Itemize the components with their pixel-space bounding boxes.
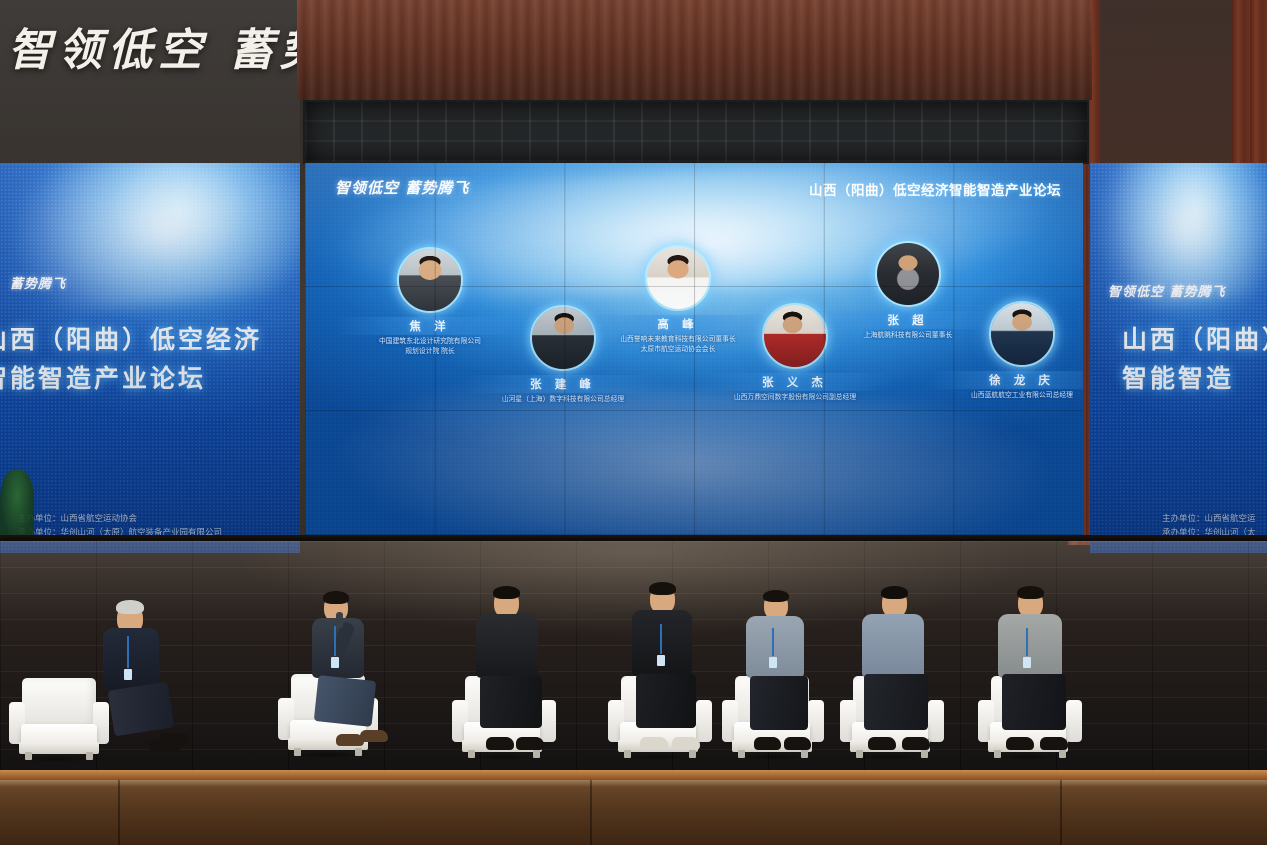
person-1-badge (124, 669, 132, 680)
main-led-screen: 智领低空 蓄势腾飞 山西（阳曲）低空经济智能智造产业论坛 焦 洋 中国建筑东北设… (305, 163, 1083, 535)
person-7-shoe-left (1006, 737, 1034, 750)
chair-leg-left-5 (738, 750, 745, 758)
person-4-hair (649, 582, 676, 595)
chair-back-1 (22, 678, 96, 726)
person-7-legs (1002, 674, 1066, 730)
person-2-legs (314, 675, 376, 727)
person-5-legs (750, 676, 808, 730)
person-3-shoe-right (516, 737, 544, 750)
person-4-lanyard (660, 624, 662, 654)
person-6-torso (862, 614, 924, 678)
person-3-hair (493, 586, 520, 599)
conference-stage-photo: 智领低空 蓄势腾飞 智领低空 蓄势腾飞 山西（阳曲）低空经济智能智造产业论坛 焦… (0, 0, 1267, 845)
panel-seat-3 (452, 590, 602, 758)
person-7-lanyard (1026, 628, 1028, 656)
chair-leg-left-1 (25, 752, 32, 760)
panel-seat-6 (840, 590, 990, 758)
person-7-badge (1023, 657, 1031, 668)
person-4-badge (657, 655, 665, 666)
chair-leg-left-3 (468, 750, 475, 758)
banner-left-sheen (0, 163, 300, 553)
person-2-badge (331, 657, 339, 668)
person-5-torso (746, 616, 804, 678)
chair-leg-right-2 (355, 748, 362, 756)
person-6-hair (881, 586, 908, 599)
seated-person-1 (87, 600, 207, 752)
person-2-lanyard (334, 626, 336, 656)
panel-seat-1 (5, 600, 165, 760)
venue-calligraphy-banner: 智领低空 蓄势腾飞 (8, 14, 338, 76)
led-dark-header-panel (303, 100, 1089, 164)
person-2-shoe-right (360, 730, 388, 742)
person-1-torso (103, 628, 159, 690)
person-1-shoe-right (149, 740, 181, 752)
person-7-hair (1017, 586, 1044, 599)
seated-person-7 (992, 582, 1104, 750)
person-7-shoe-right (1040, 737, 1068, 750)
chair-leg-right-4 (689, 750, 696, 758)
stage-potted-plant (0, 470, 34, 542)
apron-seam-3 (1060, 780, 1062, 845)
chair-leg-left-4 (624, 750, 631, 758)
person-3-shoe-left (486, 737, 514, 750)
person-5-shoe-left (754, 737, 781, 750)
person-7-torso (998, 614, 1062, 678)
apron-seam-1 (118, 780, 120, 845)
person-6-shoe-left (868, 737, 896, 750)
person-5-badge (769, 657, 777, 668)
apron-top-highlight (0, 780, 1267, 787)
person-5-shoe-right (784, 737, 811, 750)
chair-leg-left-6 (856, 750, 863, 758)
person-2-microphone (336, 612, 343, 628)
person-4-shoe-left (640, 737, 668, 750)
banner-right-sheen (1090, 163, 1267, 553)
person-5-hair (763, 590, 789, 602)
person-4-torso (632, 610, 692, 676)
person-3-legs (480, 676, 542, 728)
stage-soffit (297, 0, 1092, 100)
seated-person-4 (624, 578, 734, 750)
person-1-hair (116, 600, 144, 614)
chair-leg-right-1 (86, 752, 93, 760)
person-5-lanyard (772, 628, 774, 656)
person-1-lanyard (127, 636, 129, 668)
chair-leg-left-2 (294, 748, 301, 756)
person-4-shoe-right (672, 737, 700, 750)
side-banner-left: 蓄势腾飞 山西（阳曲）低空经济 智能智造产业论坛 主办单位：山西省航空运动协会 … (0, 163, 300, 553)
led-screen-sheen (305, 163, 1083, 535)
panel-seat-2 (278, 596, 428, 756)
side-banner-right: 智领低空 蓄势腾飞 山西（阳曲） 智能智造 主办单位：山西省航空运 承办单位：华… (1090, 163, 1267, 553)
seated-person-3 (468, 582, 578, 750)
person-6-legs (864, 674, 928, 730)
panel-seat-7 (978, 590, 1128, 758)
chair-leg-left-7 (994, 750, 1001, 758)
stage-apron (0, 780, 1267, 845)
seated-person-2 (302, 588, 412, 748)
person-4-legs (636, 674, 696, 728)
chair-leg-right-3 (533, 750, 540, 758)
chair-leg-right-5 (801, 750, 808, 758)
seated-person-5 (738, 584, 848, 750)
soffit-grain (297, 0, 1092, 100)
apron-seam-2 (590, 780, 592, 845)
person-2-hair (323, 591, 349, 604)
chair-leg-right-7 (1059, 750, 1066, 758)
person-6-shoe-right (902, 737, 930, 750)
person-3-torso (476, 614, 538, 678)
chair-leg-right-6 (921, 750, 928, 758)
person-1-legs (108, 682, 174, 737)
seated-person-6 (854, 582, 966, 750)
